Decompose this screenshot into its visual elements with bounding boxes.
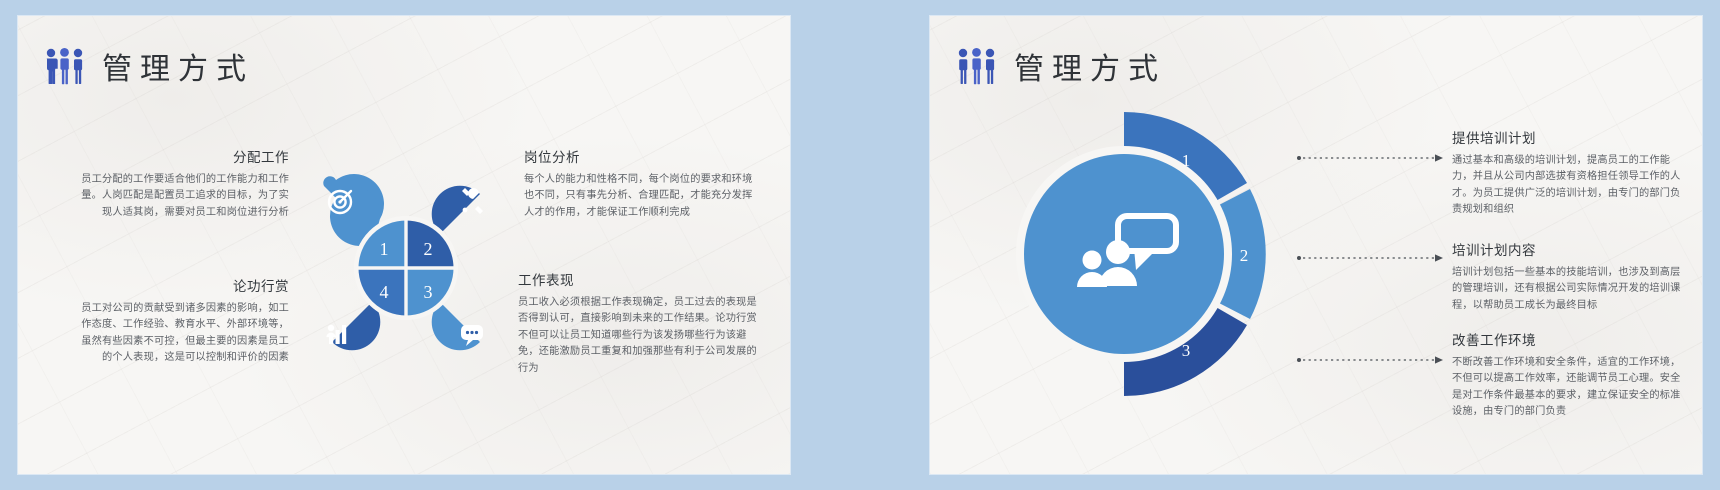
block-body: 不断改善工作环境和安全条件，适宜的工作环境，不但可以提高工作效率，还能调节员工心… (1452, 355, 1684, 421)
page-title: 管理方式 (102, 44, 254, 88)
connector-3 (1297, 352, 1447, 362)
slide-right-header: 管理方式 (954, 44, 1166, 88)
quadrant-number-4: 4 (380, 282, 389, 302)
block-heading: 论功行赏 (74, 278, 289, 297)
bar-chart-icon (326, 325, 346, 344)
quadrant-number-2: 2 (424, 239, 433, 259)
page-title: 管理方式 (1014, 44, 1166, 88)
block-body: 员工分配的工作要适合他们的工作能力和工作量。人岗匹配是配置员工追求的目标，为了实… (74, 172, 289, 222)
block-body: 员工收入必须根据工作表现确定，员工过去的表现是否得到认可，直接影响到未来的工作结… (518, 295, 758, 378)
segment-number-2: 2 (1240, 246, 1249, 265)
people-group-icon (42, 46, 88, 86)
text-block-fenpei-gongzuo: 分配工作 员工分配的工作要适合他们的工作能力和工作量。人岗匹配是配置员工追求的目… (74, 149, 289, 221)
quadrant-number-3: 3 (424, 282, 433, 302)
segmented-donut-diagram[interactable]: 1 2 3 (964, 94, 1284, 414)
block-heading: 改善工作环境 (1452, 332, 1684, 351)
connector-2 (1297, 250, 1447, 260)
text-block-gangwei-fenxi: 岗位分析 每个人的能力和性格不同，每个岗位的要求和环境也不同，只有事先分析、合理… (524, 149, 756, 221)
segment-number-1: 1 (1182, 151, 1191, 170)
quadrant-group (356, 218, 456, 318)
connector-1 (1297, 150, 1447, 160)
segment-number-3: 3 (1182, 341, 1191, 360)
quadrant-number-1: 1 (380, 239, 389, 259)
block-body: 每个人的能力和性格不同，每个岗位的要求和环境也不同，只有事先分析、合理匹配，才能… (524, 172, 756, 222)
four-petal-quadrant-diagram[interactable]: 1 2 3 4 (306, 168, 506, 368)
block-body: 员工对公司的贡献受到诸多因素的影响，如工作态度、工作经验、教育水平、外部环境等，… (74, 301, 289, 367)
block-heading: 岗位分析 (524, 149, 756, 168)
slide-left[interactable]: 管理方式 分配工作 员工分配的工作要适合他们的工作能力和工作量。人岗匹配是配置员… (18, 16, 790, 474)
text-block-lungong-xingshang: 论功行赏 员工对公司的贡献受到诸多因素的影响，如工作态度、工作经验、教育水平、外… (74, 278, 289, 367)
slide-left-header: 管理方式 (42, 44, 254, 88)
block-heading: 工作表现 (518, 272, 758, 291)
text-block-gaishan-gongzuo-huanjing: 改善工作环境 不断改善工作环境和安全条件，适宜的工作环境，不但可以提高工作效率，… (1452, 332, 1684, 421)
block-heading: 提供培训计划 (1452, 130, 1684, 149)
text-block-peixun-jihua-neirong: 培训计划内容 培训计划包括一些基本的技能培训，也涉及到高层的管理培训，还有根据公… (1452, 242, 1684, 314)
people-group-icon (954, 46, 1000, 86)
block-body: 培训计划包括一些基本的技能培训，也涉及到高层的管理培训，还有根据公司实际情况开发… (1452, 265, 1684, 315)
block-heading: 培训计划内容 (1452, 242, 1684, 261)
presentation-stage: 管理方式 分配工作 员工分配的工作要适合他们的工作能力和工作量。人岗匹配是配置员… (0, 0, 1720, 490)
block-heading: 分配工作 (74, 149, 289, 168)
text-block-tigong-peixun-jihua: 提供培训计划 通过基本和高级的培训计划，提高员工的工作能力，并且从公司内部选拔有… (1452, 130, 1684, 219)
block-body: 通过基本和高级的培训计划，提高员工的工作能力，并且从公司内部选拔有资格担任领导工… (1452, 153, 1684, 219)
text-block-gongzuo-biaoxian: 工作表现 员工收入必须根据工作表现确定，员工过去的表现是否得到认可，直接影响到未… (518, 272, 758, 377)
slide-right[interactable]: 管理方式 (930, 16, 1702, 474)
